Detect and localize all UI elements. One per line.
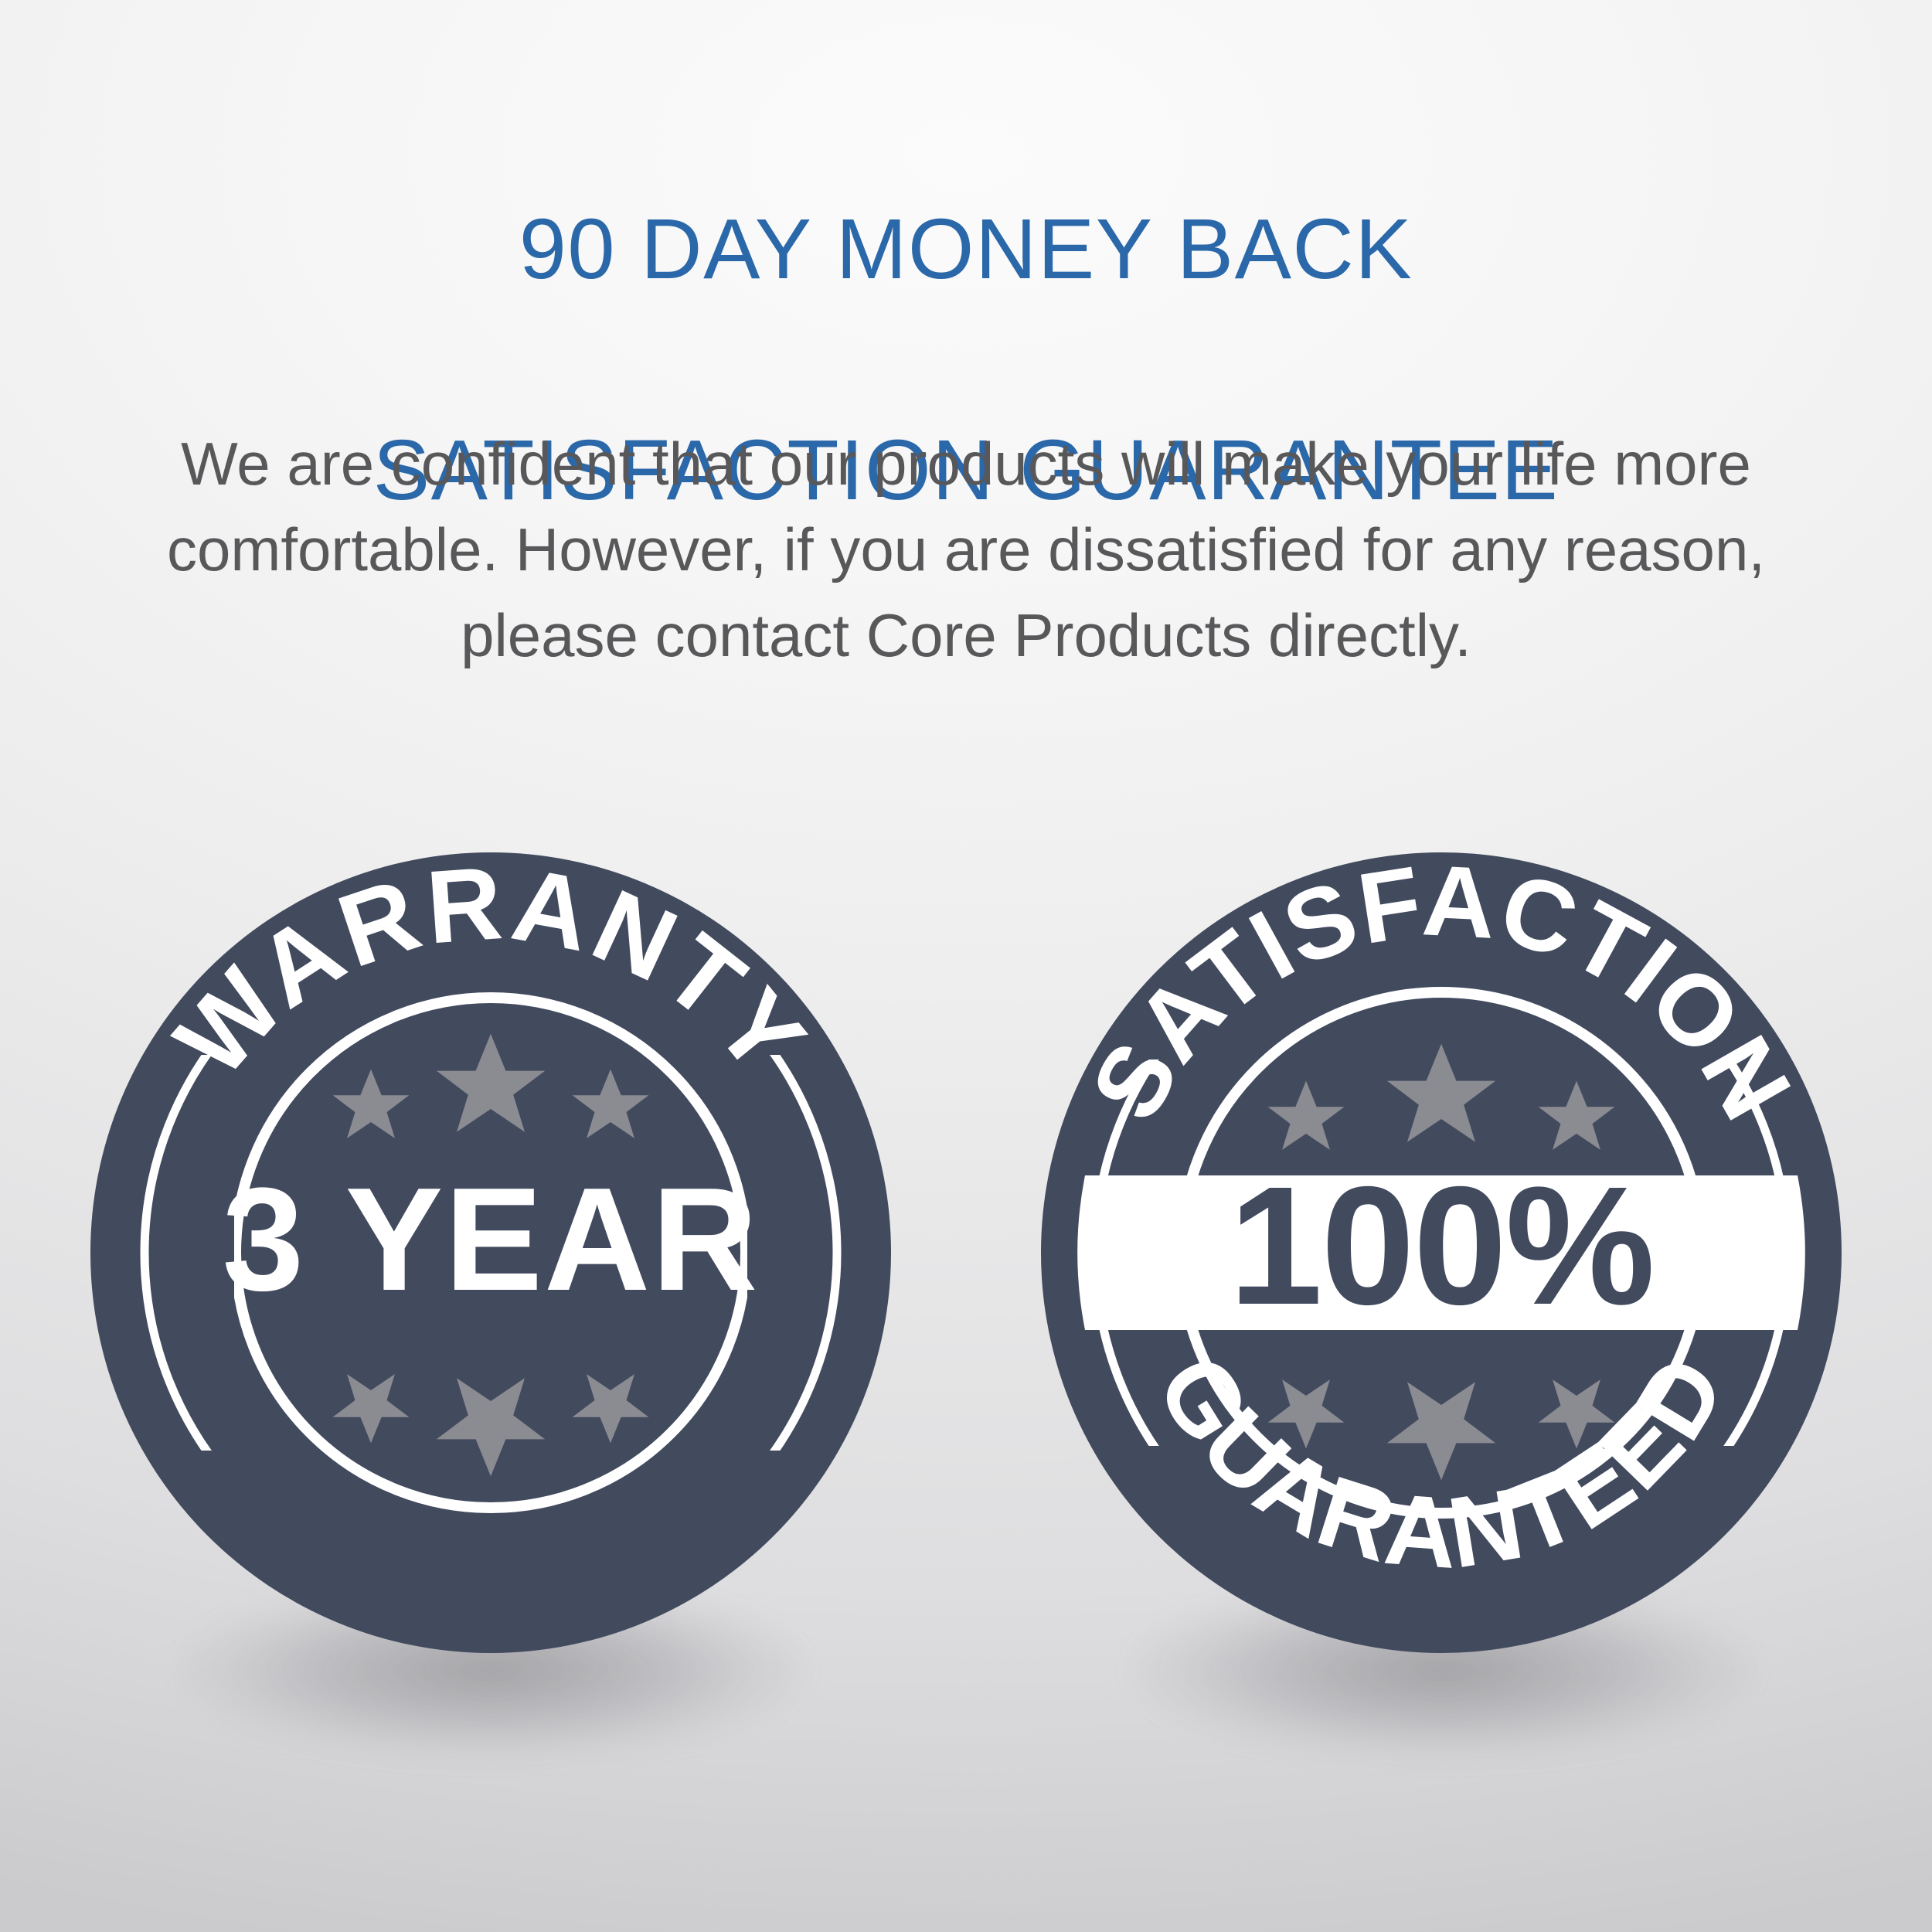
guarantee-description-line-1: We are confident that our products will … <box>131 421 1801 507</box>
guarantee-banner: 90 DAY MONEY BACK SATISFACTION GUARANTEE… <box>0 0 1932 1932</box>
warranty-badge-center-text: 3 YEAR <box>223 1158 760 1321</box>
guarantee-description-line-3: please contact Core Products directly. <box>131 593 1801 679</box>
satisfaction-badge: SATISFACTION GUARANTEED 100% <box>1041 852 1842 1653</box>
guarantee-description-line-2: comfortable. However, if you are dissati… <box>131 507 1801 593</box>
satisfaction-badge-center-text: 100% <box>1229 1152 1654 1340</box>
page-title-line-1: 90 DAY MONEY BACK <box>0 194 1932 304</box>
warranty-badge: WARRANTY <box>90 852 891 1653</box>
warranty-badge-graphic: WARRANTY <box>90 852 891 1653</box>
satisfaction-badge-graphic: SATISFACTION GUARANTEED 100% <box>1041 852 1842 1653</box>
badge-row: WARRANTY <box>0 852 1932 1702</box>
guarantee-description: We are confident that our products will … <box>131 421 1801 678</box>
